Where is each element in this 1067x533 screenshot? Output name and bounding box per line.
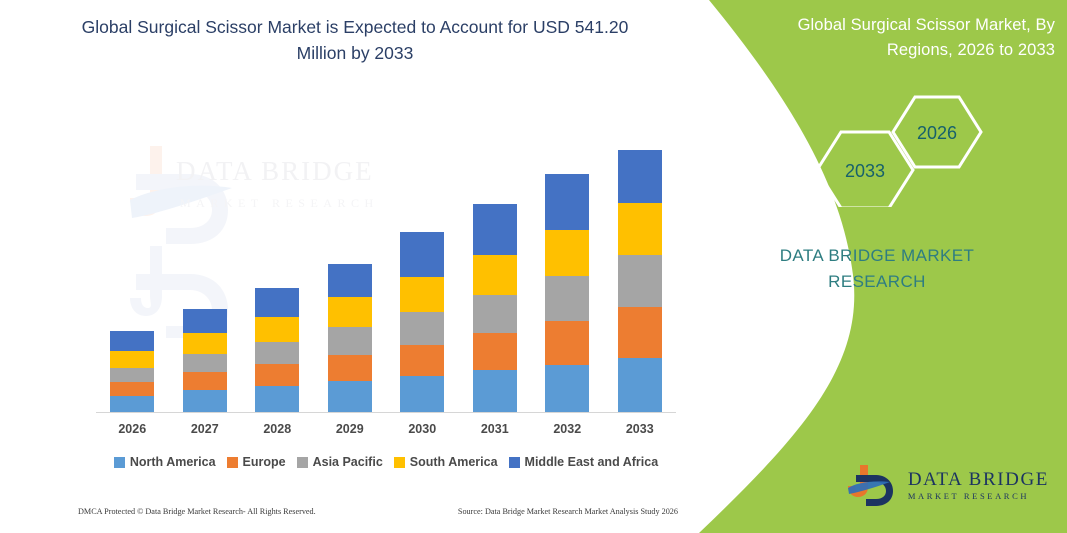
bar-segment bbox=[618, 358, 662, 412]
bar-segment bbox=[110, 368, 154, 382]
legend-swatch-icon bbox=[227, 457, 238, 468]
x-axis-labels: 20262027202820292030203120322033 bbox=[96, 422, 676, 436]
bar-segment bbox=[255, 386, 299, 412]
bar-segment bbox=[328, 327, 372, 355]
bar-segment bbox=[473, 255, 517, 295]
logo-line2: MARKET RESEARCH bbox=[908, 492, 1049, 501]
bar-segment bbox=[545, 276, 589, 321]
stacked-bar bbox=[110, 331, 154, 412]
stacked-bar bbox=[400, 232, 444, 412]
stacked-bar bbox=[618, 150, 662, 412]
bar-column-2032 bbox=[531, 120, 603, 412]
bar-segment bbox=[255, 342, 299, 364]
footer: DMCA Protected © Data Bridge Market Rese… bbox=[78, 507, 678, 516]
bar-segment bbox=[545, 174, 589, 230]
bar-segment bbox=[545, 321, 589, 365]
bar-segment bbox=[183, 372, 227, 390]
bar-segment bbox=[473, 295, 517, 333]
bar-segment bbox=[618, 203, 662, 255]
infographic-page: Global Surgical Scissor Market, By Regio… bbox=[0, 0, 1067, 533]
bar-column-2026 bbox=[96, 120, 168, 412]
chart-panel: Global Surgical Scissor Market is Expect… bbox=[0, 0, 712, 533]
bar-segment bbox=[183, 390, 227, 412]
bar-segment bbox=[473, 333, 517, 370]
legend-label: South America bbox=[410, 455, 498, 469]
bar-segment bbox=[545, 230, 589, 276]
stacked-bar bbox=[545, 174, 589, 412]
footer-copyright: DMCA Protected © Data Bridge Market Rese… bbox=[78, 507, 316, 516]
bar-column-2027 bbox=[169, 120, 241, 412]
bar-segment bbox=[255, 364, 299, 386]
bar-column-2031 bbox=[459, 120, 531, 412]
bar-column-2030 bbox=[386, 120, 458, 412]
hexagon-label-2026: 2026 bbox=[917, 123, 957, 143]
bar-segment bbox=[400, 232, 444, 277]
bar-column-2033 bbox=[604, 120, 676, 412]
legend-swatch-icon bbox=[114, 457, 125, 468]
x-axis-label-2030: 2030 bbox=[386, 422, 458, 436]
stacked-bar-chart bbox=[96, 120, 676, 412]
bar-segment bbox=[183, 309, 227, 333]
bar-segment bbox=[255, 288, 299, 317]
bar-column-2029 bbox=[314, 120, 386, 412]
hexagon-badges: 2033 2026 bbox=[805, 92, 1005, 207]
x-axis-line bbox=[96, 412, 676, 413]
bar-segment bbox=[183, 333, 227, 354]
side-panel-brand-line2: RESEARCH bbox=[687, 269, 1067, 295]
chart-title: Global Surgical Scissor Market is Expect… bbox=[60, 14, 650, 66]
data-bridge-logo: DATA BRIDGE MARKET RESEARCH bbox=[846, 461, 1049, 509]
side-panel-title: Global Surgical Scissor Market, By Regio… bbox=[755, 13, 1055, 63]
legend-item[interactable]: Middle East and Africa bbox=[509, 455, 659, 469]
bar-segment bbox=[110, 351, 154, 368]
bar-segment bbox=[400, 345, 444, 376]
bar-segment bbox=[328, 381, 372, 412]
bar-segment bbox=[473, 370, 517, 412]
side-panel-brand-line1: DATA BRIDGE MARKET bbox=[780, 246, 975, 265]
x-axis-label-2027: 2027 bbox=[169, 422, 241, 436]
legend-label: Middle East and Africa bbox=[525, 455, 659, 469]
bar-segment bbox=[255, 317, 299, 342]
bar-segment bbox=[618, 255, 662, 307]
x-axis-label-2029: 2029 bbox=[314, 422, 386, 436]
bar-segment bbox=[328, 297, 372, 327]
bar-segment bbox=[110, 382, 154, 396]
stacked-bar bbox=[473, 204, 517, 412]
stacked-bar bbox=[328, 264, 372, 412]
bar-segment bbox=[400, 376, 444, 412]
legend-swatch-icon bbox=[297, 457, 308, 468]
logo-b-mark-icon bbox=[846, 461, 898, 509]
bar-segment bbox=[473, 204, 517, 255]
legend-label: Asia Pacific bbox=[313, 455, 383, 469]
x-axis-label-2026: 2026 bbox=[96, 422, 168, 436]
bar-segment bbox=[110, 396, 154, 412]
bar-segment bbox=[545, 365, 589, 412]
x-axis-label-2033: 2033 bbox=[604, 422, 676, 436]
bar-segment bbox=[618, 150, 662, 203]
chart-legend: North AmericaEuropeAsia PacificSouth Ame… bbox=[96, 455, 676, 469]
legend-label: North America bbox=[130, 455, 216, 469]
side-panel-brand: DATA BRIDGE MARKET RESEARCH bbox=[687, 243, 1067, 295]
legend-swatch-icon bbox=[394, 457, 405, 468]
bar-segment bbox=[328, 355, 372, 381]
bar-segment bbox=[328, 264, 372, 297]
hexagon-label-2033: 2033 bbox=[845, 161, 885, 181]
bar-segment bbox=[400, 277, 444, 312]
x-axis-label-2028: 2028 bbox=[241, 422, 313, 436]
legend-item[interactable]: North America bbox=[114, 455, 216, 469]
footer-source: Source: Data Bridge Market Research Mark… bbox=[458, 507, 678, 516]
stacked-bar bbox=[183, 309, 227, 412]
bar-segment bbox=[400, 312, 444, 345]
x-axis-label-2031: 2031 bbox=[459, 422, 531, 436]
legend-item[interactable]: Europe bbox=[227, 455, 286, 469]
logo-wordmark: DATA BRIDGE MARKET RESEARCH bbox=[908, 470, 1049, 501]
bar-segment bbox=[110, 331, 154, 351]
legend-item[interactable]: South America bbox=[394, 455, 498, 469]
bar-segment bbox=[183, 354, 227, 372]
logo-line1: DATA BRIDGE bbox=[908, 470, 1049, 489]
legend-label: Europe bbox=[243, 455, 286, 469]
x-axis-label-2032: 2032 bbox=[531, 422, 603, 436]
bar-column-2028 bbox=[241, 120, 313, 412]
side-panel-content: Global Surgical Scissor Market, By Regio… bbox=[687, 0, 1067, 533]
legend-item[interactable]: Asia Pacific bbox=[297, 455, 383, 469]
stacked-bar bbox=[255, 288, 299, 412]
legend-swatch-icon bbox=[509, 457, 520, 468]
bar-segment bbox=[618, 307, 662, 358]
